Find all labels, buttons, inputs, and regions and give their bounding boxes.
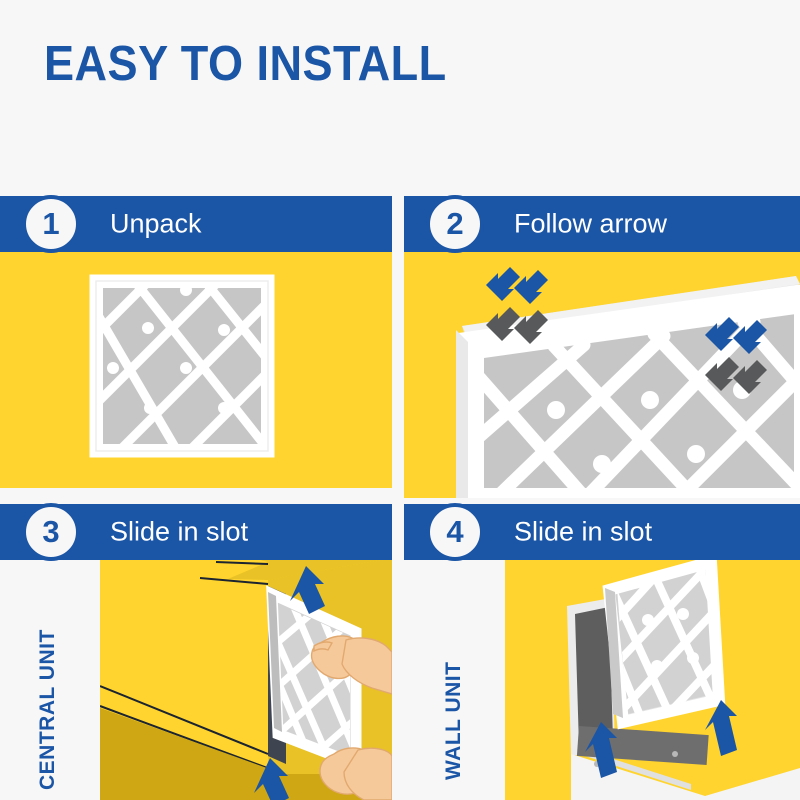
step-4-label: Slide in slot bbox=[514, 517, 652, 548]
step-2-header: 2 Follow arrow bbox=[404, 196, 800, 252]
step-4-number: 4 bbox=[446, 514, 463, 550]
step-3-panel bbox=[100, 558, 392, 800]
step-1-header: 1 Unpack bbox=[0, 196, 392, 252]
step-2-label: Follow arrow bbox=[514, 209, 667, 240]
step-4-panel bbox=[505, 558, 800, 800]
step-1-illustration bbox=[0, 250, 392, 488]
step-1-number-badge: 1 bbox=[22, 195, 80, 253]
airflow-arrow-blue-left bbox=[486, 267, 548, 304]
insert-direction-arrow-right bbox=[705, 700, 737, 756]
step-2-panel bbox=[404, 250, 800, 498]
step-3-illustration bbox=[100, 558, 392, 800]
step-3-number-badge: 3 bbox=[22, 503, 80, 561]
step-4-header: 4 Slide in slot bbox=[404, 504, 800, 560]
wall-unit-side-label: WALL UNIT bbox=[442, 662, 466, 780]
step-2-number: 2 bbox=[446, 206, 463, 242]
step-1-label: Unpack bbox=[110, 209, 202, 240]
page-title: EASY TO INSTALL bbox=[44, 36, 447, 92]
step-2-illustration bbox=[404, 250, 800, 498]
step-4-illustration bbox=[505, 558, 800, 800]
central-unit-side-label: CENTRAL UNIT bbox=[36, 629, 60, 790]
step-3-number: 3 bbox=[42, 514, 59, 550]
step-1-panel bbox=[0, 250, 392, 488]
install-instructions-infographic: EASY TO INSTALL bbox=[0, 0, 800, 800]
step-2-number-badge: 2 bbox=[426, 195, 484, 253]
step-3-label: Slide in slot bbox=[110, 517, 248, 548]
step-3-header: 3 Slide in slot bbox=[0, 504, 392, 560]
step-4-number-badge: 4 bbox=[426, 503, 484, 561]
step-1-number: 1 bbox=[42, 206, 59, 242]
